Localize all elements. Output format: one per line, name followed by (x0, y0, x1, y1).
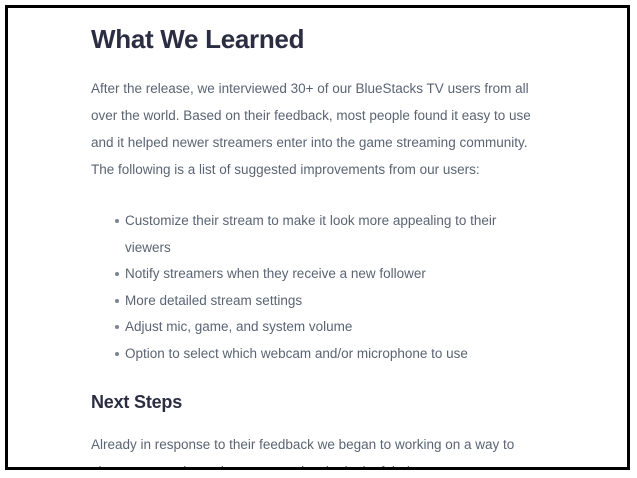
intro-paragraph: After the release, we interviewed 30+ of… (91, 75, 538, 183)
list-item: Notify streamers when they receive a new… (91, 261, 543, 288)
list-item-label: More detailed stream settings (125, 293, 302, 308)
bullet-icon (115, 299, 119, 303)
improvements-list: Customize their stream to make it look m… (91, 208, 543, 367)
document-page: What We Learned After the release, we in… (5, 5, 630, 470)
closing-paragraph: Already in response to their feedback we… (91, 431, 538, 470)
bullet-icon (115, 219, 119, 223)
document-content: What We Learned After the release, we in… (91, 23, 543, 470)
bullet-icon (115, 352, 119, 356)
section-heading-next-steps: Next Steps (91, 390, 543, 414)
page-title: What We Learned (91, 23, 543, 55)
list-item: Adjust mic, game, and system volume (91, 314, 543, 341)
list-item-label: Customize their stream to make it look m… (125, 213, 496, 255)
list-item: Customize their stream to make it look m… (91, 208, 543, 261)
list-item-label: Option to select which webcam and/or mic… (125, 346, 468, 361)
list-item-label: Notify streamers when they receive a new… (125, 266, 426, 281)
list-item: More detailed stream settings (91, 288, 543, 315)
bullet-icon (115, 272, 119, 276)
list-item: Option to select which webcam and/or mic… (91, 341, 543, 368)
list-item-label: Adjust mic, game, and system volume (125, 319, 352, 334)
bullet-icon (115, 325, 119, 329)
